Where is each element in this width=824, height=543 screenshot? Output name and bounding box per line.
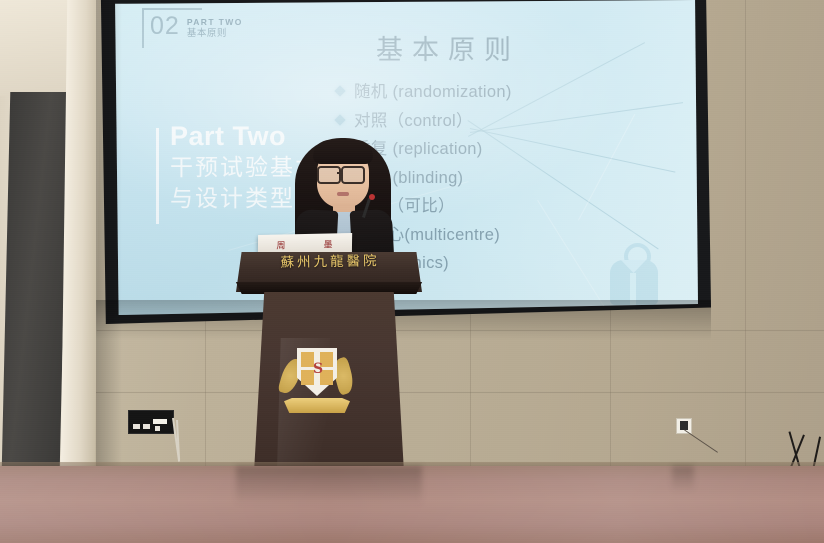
floor-sheen	[0, 466, 824, 543]
glasses-right-lens	[341, 166, 365, 184]
glasses-left-lens	[317, 166, 341, 184]
left-wall-upper	[0, 0, 74, 96]
bullet-text: 对照（control）	[354, 107, 473, 131]
crest-letter: S	[313, 361, 323, 377]
bullet-text: 随机 (randomization)	[354, 78, 512, 102]
diamond-bullet-icon	[334, 85, 345, 96]
wall-seam	[96, 392, 824, 393]
hair-fringe	[313, 140, 373, 164]
mouth	[337, 192, 349, 196]
nameplate-char-one: 周	[276, 238, 286, 251]
glasses-bridge	[337, 172, 341, 174]
list-item: 随机 (randomization)	[336, 78, 666, 107]
wall-seam	[96, 330, 824, 331]
slide-title: 基本原则	[376, 28, 520, 67]
panel-button[interactable]	[155, 426, 160, 431]
microphone-tip	[369, 194, 375, 200]
section-number: 02	[150, 14, 180, 39]
section-label-en: PART TWO	[187, 17, 243, 28]
accent-bar	[156, 128, 159, 224]
presentation-photo-scene: 02 PART TWO 基本原则 基本原则 随机 (randomization)…	[0, 0, 824, 543]
panel-button[interactable]	[133, 424, 140, 429]
person-figure-icon	[606, 243, 662, 305]
wall-outlet[interactable]	[676, 418, 692, 434]
list-item: 对照（control）	[336, 107, 666, 136]
side-door	[2, 92, 69, 470]
wall-pillar	[61, 0, 102, 470]
crest-ribbon	[284, 398, 350, 413]
podium-gold-text: 蘇州九龍醫院	[252, 249, 408, 272]
nameplate-char-two: 墨	[323, 237, 333, 250]
section-label-cn: 基本原则	[187, 28, 243, 41]
slide-section-marker: 02 PART TWO 基本原则	[150, 14, 243, 40]
panel-button[interactable]	[143, 424, 150, 429]
shield-crest-icon: S	[280, 344, 354, 422]
wall-control-panel[interactable]	[128, 410, 174, 434]
figure-legs-gap	[630, 273, 636, 305]
panel-button[interactable]	[153, 419, 167, 424]
